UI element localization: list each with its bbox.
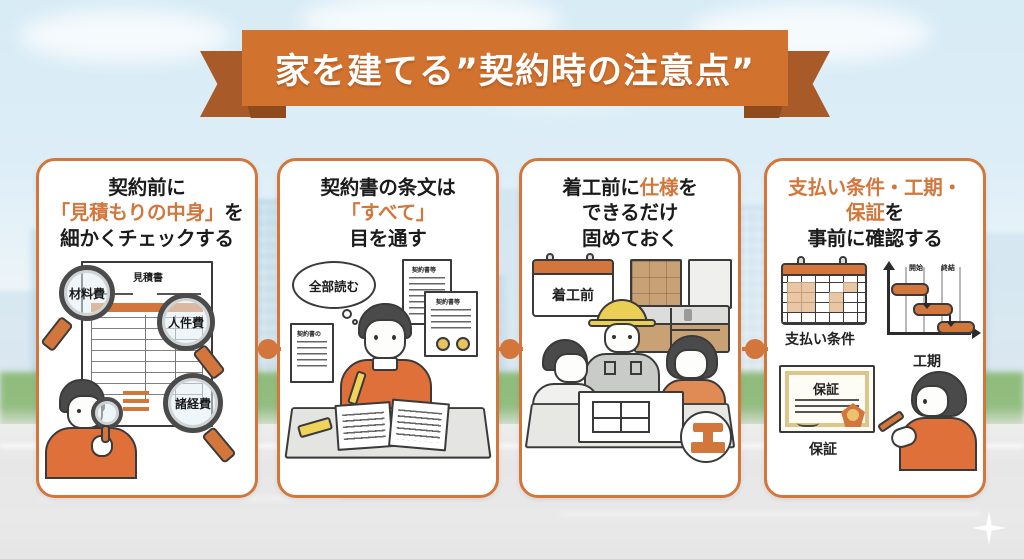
heading-line: 目を通す xyxy=(286,226,490,251)
contract-document-left: 契約書の xyxy=(290,323,334,383)
ribbon-band: 家を建てる”契約時の注意点” xyxy=(242,30,788,106)
gantt-chart: 開始 終結 xyxy=(879,265,977,349)
stamp-icon xyxy=(680,411,732,463)
gantt-end-label: 終結 xyxy=(941,263,955,273)
heading-line: 契約前に xyxy=(45,175,249,200)
warranty-certificate: 保証 xyxy=(779,365,875,433)
heading-plain: 目を通す xyxy=(349,227,426,250)
heading-highlight: 「すべて」 xyxy=(341,201,435,224)
heading-plain: 契約前に xyxy=(108,176,185,199)
heading-highlight: 保証 xyxy=(846,201,885,224)
connector-2-3 xyxy=(497,339,523,359)
seal-stamp-icon xyxy=(456,337,470,351)
heading-line: 支払い条件・工期・ xyxy=(773,175,977,200)
document-label: 契約書の xyxy=(297,329,321,338)
gantt-bar xyxy=(937,321,975,334)
blueprint xyxy=(578,391,684,443)
heading-line: 事前に確認する xyxy=(773,226,977,251)
heading-line: 「すべて」 xyxy=(286,200,490,225)
wallpaper-sample xyxy=(688,259,732,309)
infographic-root: 家を建てる”契約時の注意点” 契約前に 「見積もりの中身」を 細かくチェックする… xyxy=(0,0,1024,559)
heading-line: 保証を xyxy=(773,200,977,225)
document-title-mitsumorisho: 見積書 xyxy=(133,269,163,284)
document-label: 契約書等 xyxy=(412,265,436,274)
connector-1-2 xyxy=(255,339,281,359)
title-ribbon: 家を建てる”契約時の注意点” xyxy=(200,30,830,122)
person-with-magnifier xyxy=(45,379,149,477)
heading-line: 着工前に仕様を xyxy=(528,175,732,200)
heading-line: 固めておく xyxy=(528,226,732,251)
magnifier-label: 人件費 xyxy=(162,298,210,346)
magnifier-label: 材料費 xyxy=(64,270,110,316)
card-fix-specs-before-construction[interactable]: 着工前に仕様を できるだけ 固めておく 着工前 xyxy=(519,158,741,498)
person-pointing xyxy=(885,371,977,471)
card-3-heading: 着工前に仕様を できるだけ 固めておく xyxy=(522,161,738,255)
certificate-caption: 保証 xyxy=(809,439,837,459)
heading-plain: 細かくチェックする xyxy=(60,227,234,250)
gantt-bar xyxy=(891,283,929,296)
certificate-title: 保証 xyxy=(813,379,839,398)
heading-plain: 固めておく xyxy=(582,227,678,250)
heading-plain: できるだけ xyxy=(582,201,678,224)
heading-plain: を xyxy=(885,201,904,224)
heading-line: できるだけ xyxy=(528,200,732,225)
heading-highlight: 支払い条件・工期・ xyxy=(788,176,962,199)
connector-3-4 xyxy=(742,339,768,359)
card-payment-term-warranty[interactable]: 支払い条件・工期・ 保証を 事前に確認する 支払い条件 xyxy=(764,158,986,498)
gantt-start-label: 開始 xyxy=(909,263,923,273)
gantt-bar xyxy=(913,303,953,316)
calendar-caption: 支払い条件 xyxy=(785,329,855,349)
estimate-document-magnifier-illustration: 見積書 材料費 xyxy=(39,255,255,477)
card-1-heading: 契約前に 「見積もりの中身」を 細かくチェックする xyxy=(39,161,255,255)
open-document-left xyxy=(334,401,393,451)
gantt-caption: 工期 xyxy=(913,351,941,371)
heading-line: 契約書の条文は xyxy=(286,175,490,200)
heading-line: 「見積もりの中身」を xyxy=(45,200,249,225)
heading-plain: を xyxy=(224,201,243,224)
heading-plain: 契約書の条文は xyxy=(320,176,455,199)
heading-plain: を xyxy=(678,176,697,199)
card-estimate-check[interactable]: 契約前に 「見積もりの中身」を 細かくチェックする 見積書 xyxy=(36,158,258,498)
thought-bubble: 全部読む xyxy=(292,261,376,309)
heading-plain: 事前に確認する xyxy=(807,227,942,250)
open-document-right xyxy=(388,399,450,452)
page-title: 家を建てる”契約時の注意点” xyxy=(275,43,755,94)
card-2-heading: 契約書の条文は 「すべて」 目を通す xyxy=(280,161,496,255)
heading-highlight: 「見積もりの中身」 xyxy=(50,201,224,224)
heading-plain: 着工前に xyxy=(562,176,639,199)
heading-line: 細かくチェックする xyxy=(45,226,249,251)
calendar-payment-terms xyxy=(781,263,867,325)
reading-contract-illustration: 全部読む 契約書の 契約書等 契約書等 xyxy=(280,255,496,477)
card-4-heading: 支払い条件・工期・ 保証を 事前に確認する xyxy=(767,161,983,255)
heading-highlight: 仕様 xyxy=(640,176,679,199)
payment-schedule-warranty-illustration: 支払い条件 開始 終結 工期 xyxy=(767,255,983,477)
pre-construction-meeting-illustration: 着工前 xyxy=(522,255,738,477)
magnifier-label: 諸経費 xyxy=(168,378,218,428)
card-read-all-clauses[interactable]: 契約書の条文は 「すべて」 目を通す 全部読む 契約書の 契約書等 契約書等 xyxy=(277,158,499,498)
